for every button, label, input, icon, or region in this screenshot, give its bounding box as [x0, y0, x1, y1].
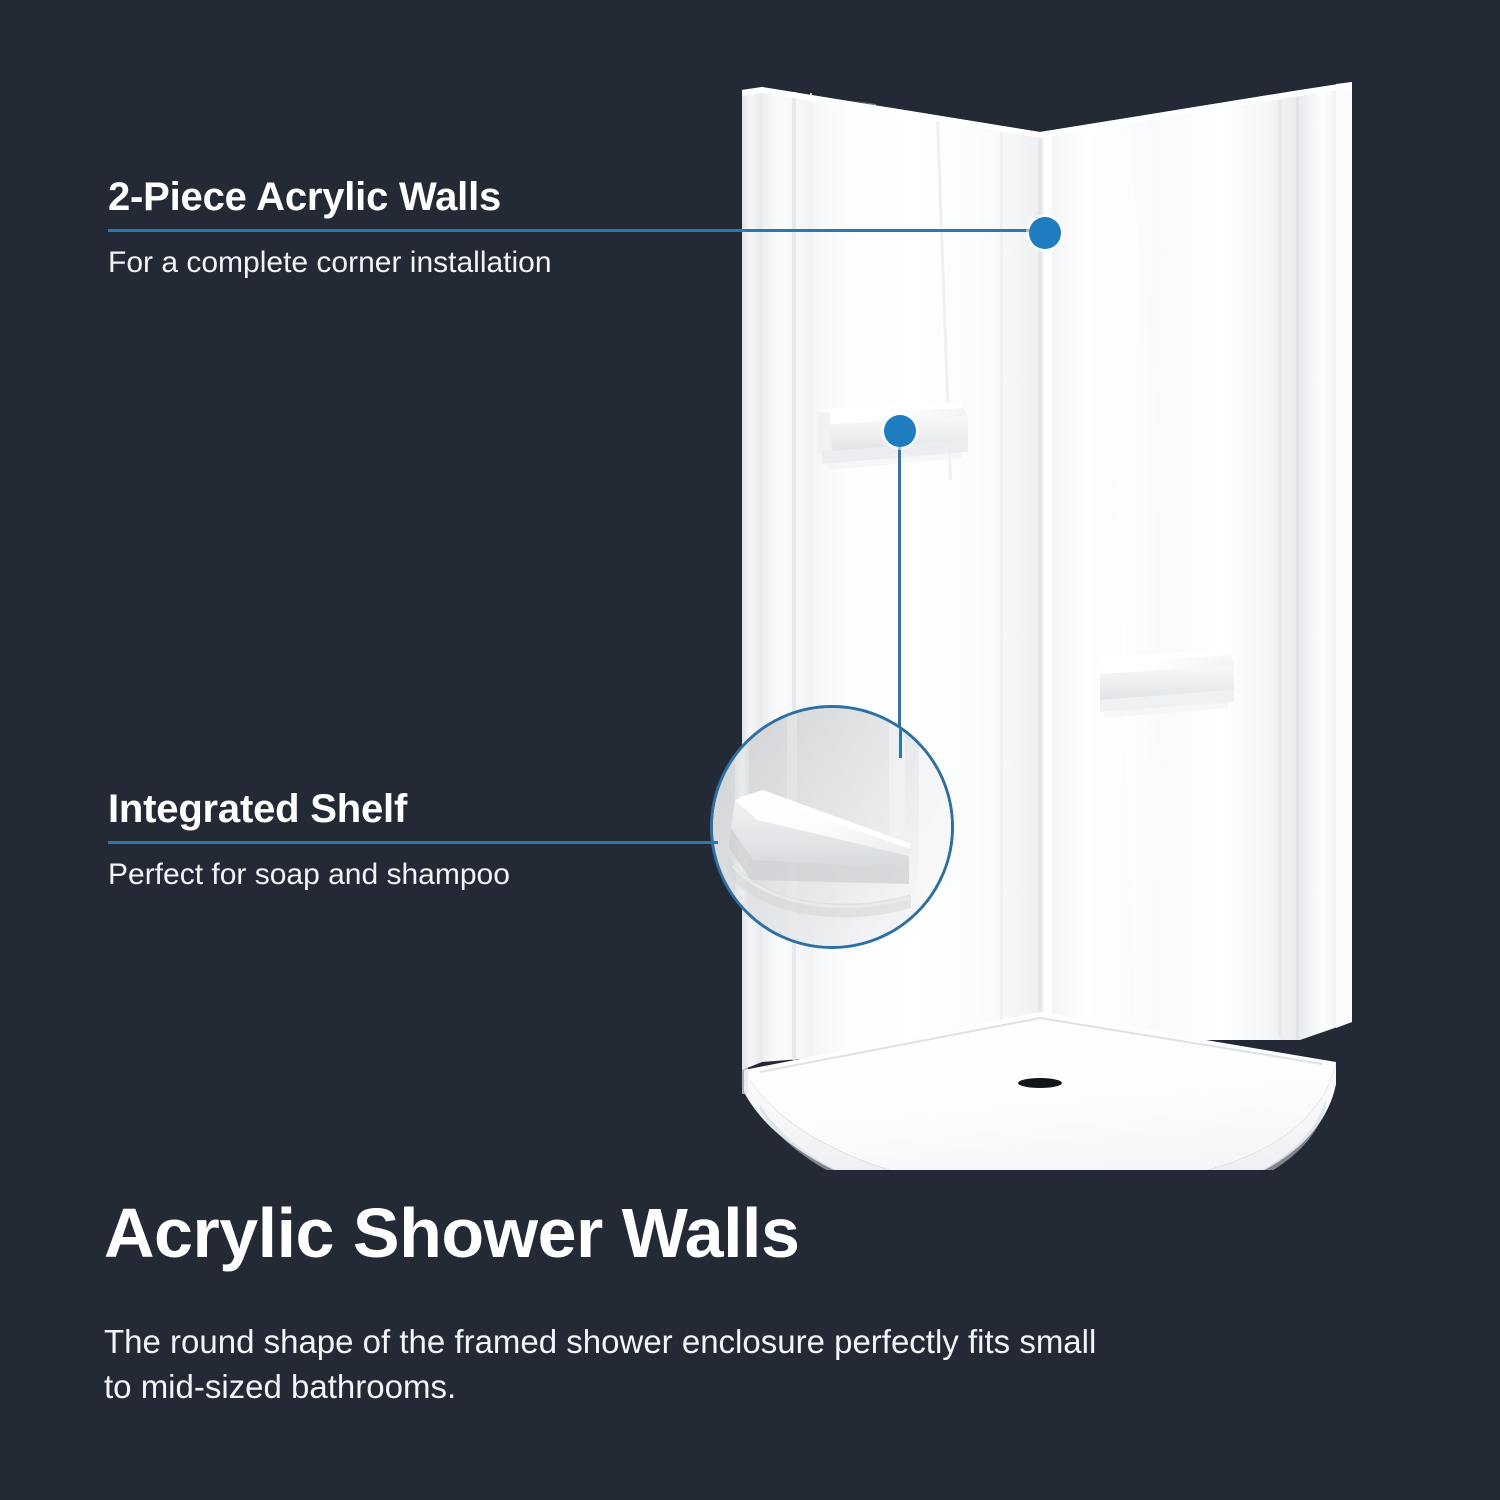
bottom-text-block: Acrylic Shower Walls The round shape of … — [104, 1198, 1174, 1410]
callout-integrated-shelf-subtitle: Perfect for soap and shampoo — [108, 856, 718, 894]
leader-line-shelf-vertical — [898, 440, 901, 730]
right-wall-bullnose — [1336, 82, 1352, 1028]
callout-acrylic-walls-subtitle: For a complete corner installation — [108, 244, 1048, 282]
callout-integrated-shelf: Integrated Shelf Perfect for soap and sh… — [108, 788, 718, 894]
drain — [1018, 1078, 1062, 1088]
callout-integrated-shelf-rule — [108, 841, 718, 844]
callout-integrated-shelf-title: Integrated Shelf — [108, 788, 718, 830]
right-acrylic-wall-panel — [1040, 90, 1300, 1040]
callout-acrylic-walls-title: 2-Piece Acrylic Walls — [108, 176, 1048, 218]
shelf-detail-magnifier — [710, 705, 954, 949]
callout-acrylic-walls: 2-Piece Acrylic Walls For a complete cor… — [108, 176, 1048, 282]
infographic-page: 2-Piece Acrylic Walls For a complete cor… — [0, 0, 1500, 1500]
leader-dot-acrylic-walls — [1029, 217, 1061, 249]
left-integrated-shelf — [818, 350, 968, 470]
leader-dot-integrated-shelf — [884, 415, 916, 447]
left-shelf-bracket — [818, 412, 832, 454]
callout-acrylic-walls-rule — [108, 229, 1048, 232]
page-headline: Acrylic Shower Walls — [104, 1198, 1174, 1268]
page-description: The round shape of the framed shower enc… — [104, 1320, 1104, 1410]
right-integrated-shelf — [1098, 649, 1234, 718]
